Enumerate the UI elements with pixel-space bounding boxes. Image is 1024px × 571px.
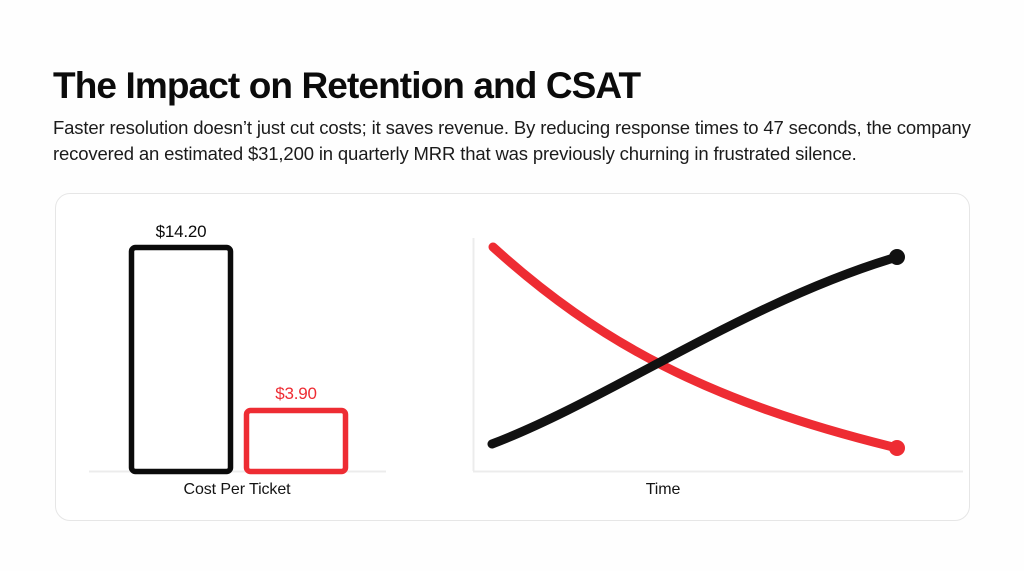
bar-before <box>132 248 231 472</box>
bar-chart-x-axis-label: Cost Per Ticket <box>56 481 418 499</box>
line-chart-x-axis-label: Time <box>418 481 908 499</box>
csat-endpoint-dot <box>889 249 905 265</box>
page-title: The Impact on Retention and CSAT <box>53 66 953 107</box>
line-chart-svg <box>418 194 971 484</box>
line-chart-panel: CSAT: 4.7 Churn: 3.8% Time <box>418 194 971 522</box>
chart-card: $14.20 $3.90 Cost Per Ticket <box>55 193 970 521</box>
bar-value-label-after: $3.90 <box>246 384 346 404</box>
bar-after <box>247 411 346 472</box>
bar-value-label-before: $14.20 <box>131 222 231 242</box>
body-paragraph: Faster resolution doesn’t just cut costs… <box>53 115 983 169</box>
bar-chart-svg <box>56 194 418 484</box>
csat-line <box>492 257 897 444</box>
bar-chart-panel: $14.20 $3.90 Cost Per Ticket <box>56 194 418 522</box>
slide-root: The Impact on Retention and CSAT Faster … <box>0 0 1024 571</box>
churn-endpoint-dot <box>889 440 905 456</box>
